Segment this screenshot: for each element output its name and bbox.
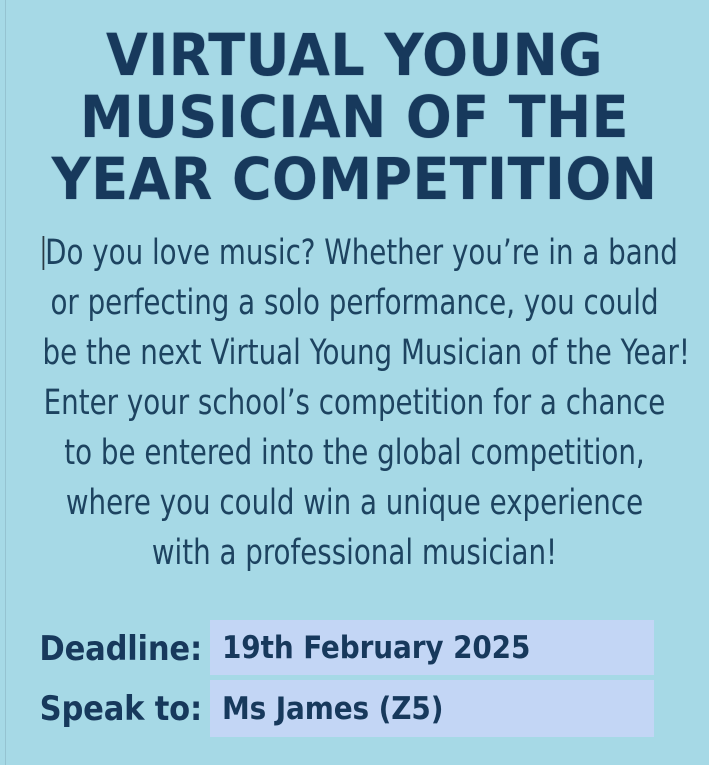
title-line-3: YEAR COMPETITION <box>25 148 684 210</box>
body-line-1-text: Do you love music? Whether you’re in a b… <box>45 233 678 273</box>
body-line-1: Do you love music? Whether you’re in a b… <box>43 228 667 278</box>
body-line-3: be the next Virtual Young Musician of th… <box>43 328 667 378</box>
body-line-6: where you could win a unique experience <box>43 478 667 528</box>
deadline-label: Deadline: <box>0 620 210 677</box>
body-line-5: to be entered into the global competitio… <box>43 428 667 478</box>
deadline-value[interactable]: 19th February 2025 <box>210 620 654 675</box>
details-block: Deadline: 19th February 2025 Speak to: M… <box>0 620 709 737</box>
body-line-7: with a professional musician! <box>43 528 667 578</box>
body-paragraph[interactable]: Do you love music? Whether you’re in a b… <box>0 228 709 578</box>
text-caret <box>43 236 45 270</box>
speak-to-value[interactable]: Ms James (Z5) <box>210 680 654 737</box>
body-line-2: or perfecting a solo performance, you co… <box>43 278 667 328</box>
detail-row-speak-to: Speak to: Ms James (Z5) <box>0 680 709 737</box>
title-line-1: VIRTUAL YOUNG <box>25 24 684 86</box>
poster-canvas: VIRTUAL YOUNG MUSICIAN OF THE YEAR COMPE… <box>0 0 709 765</box>
title-line-2: MUSICIAN OF THE <box>25 86 684 148</box>
body-line-4: Enter your school’s competition for a ch… <box>43 378 667 428</box>
speak-to-label: Speak to: <box>0 680 210 737</box>
detail-row-deadline: Deadline: 19th February 2025 <box>0 620 709 677</box>
page-title: VIRTUAL YOUNG MUSICIAN OF THE YEAR COMPE… <box>0 24 709 210</box>
